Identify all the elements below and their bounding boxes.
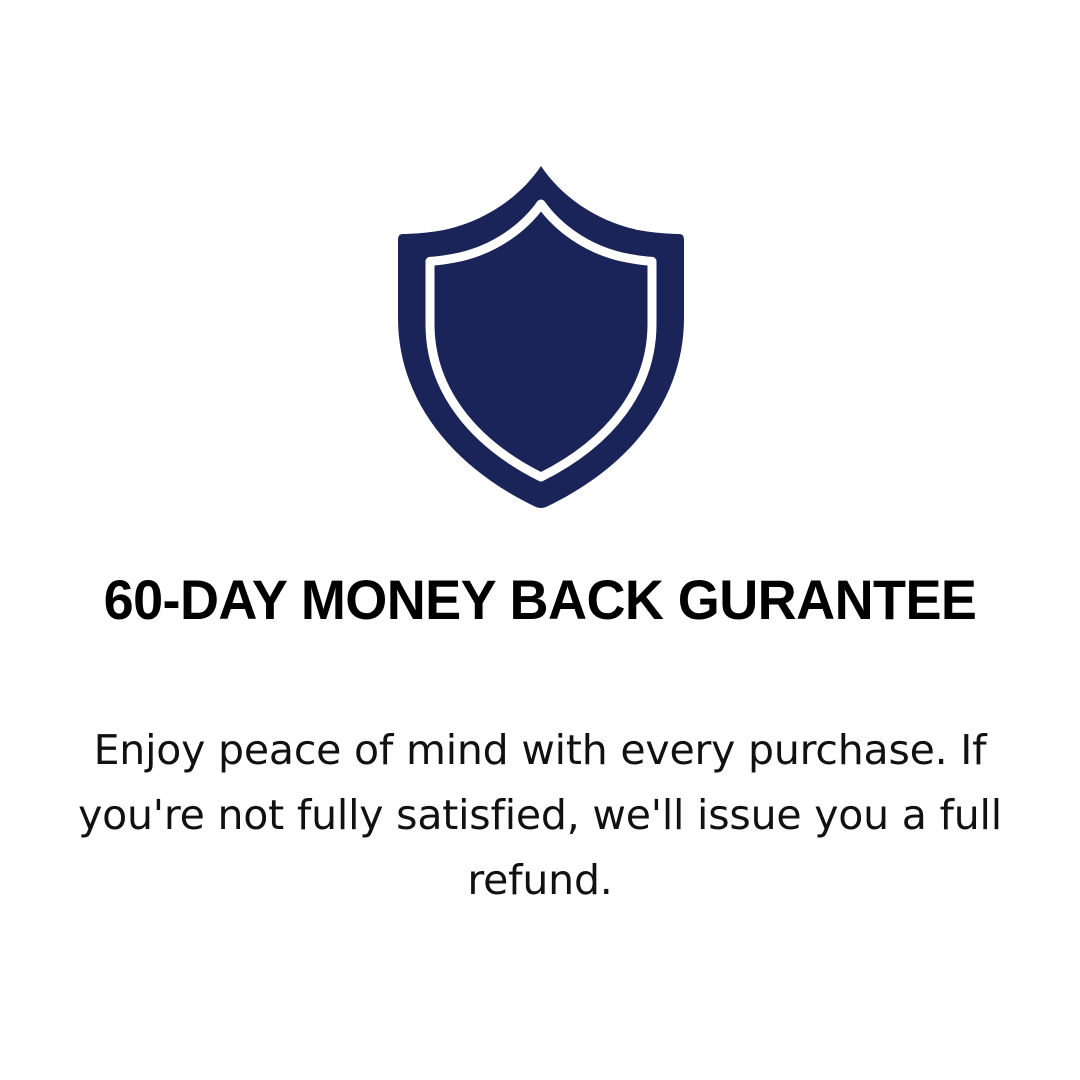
- description-line: you're not fully satisfied, we'll issue …: [10, 783, 1070, 848]
- shield-badge: [398, 166, 684, 508]
- shield-icon: [398, 166, 684, 508]
- guarantee-card: 60-DAY MONEY BACK GURANTEE Enjoy peace o…: [0, 0, 1080, 1080]
- description-line: refund.: [10, 848, 1070, 913]
- guarantee-description: Enjoy peace of mind with every purchase.…: [10, 718, 1070, 913]
- description-line: Enjoy peace of mind with every purchase.…: [10, 718, 1070, 783]
- page-title: 60-DAY MONEY BACK GURANTEE: [19, 568, 1061, 632]
